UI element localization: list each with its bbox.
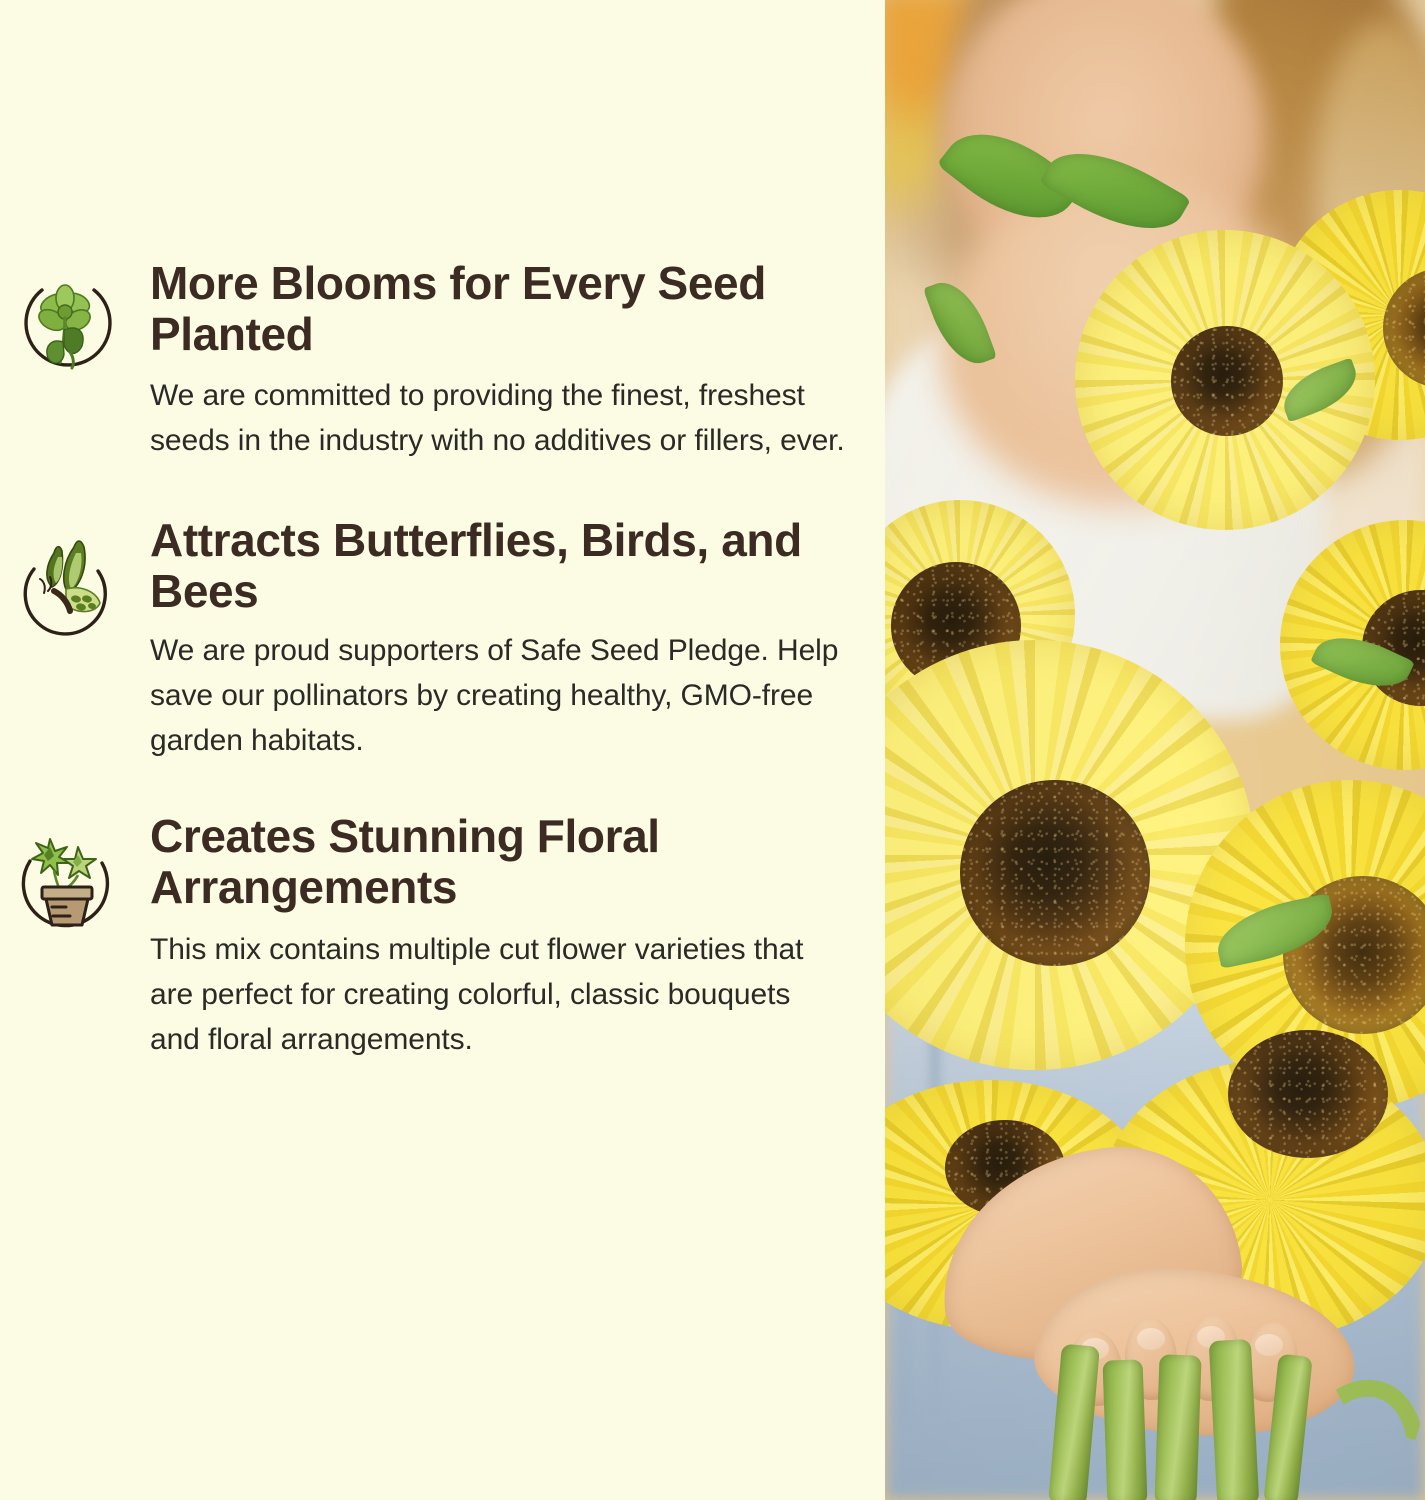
feature-block-floral-arrangements: Creates Stunning Floral Arrangements Thi… <box>0 811 885 1061</box>
feature-title: Creates Stunning Floral Arrangements <box>150 811 845 912</box>
feature-text-attracts-pollinators: Attracts Butterflies, Birds, and Bees We… <box>150 515 885 763</box>
feature-text-more-blooms: More Blooms for Every Seed Planted We ar… <box>150 258 885 463</box>
photo-stem <box>1209 1339 1260 1500</box>
feature-title: Attracts Butterflies, Birds, and Bees <box>150 515 845 616</box>
feature-block-more-blooms: More Blooms for Every Seed Planted We ar… <box>0 258 885 463</box>
butterfly-icon <box>8 525 128 643</box>
photo-stem <box>1154 1354 1201 1500</box>
sunflower-bouquet-photo <box>885 0 1425 1500</box>
feature-body: This mix contains multiple cut flower va… <box>150 927 845 1062</box>
sunflower-center <box>960 780 1150 966</box>
photo-fingernail <box>1255 1334 1283 1356</box>
potted-plant-icon <box>8 821 128 939</box>
feature-title: More Blooms for Every Seed Planted <box>150 258 845 359</box>
sunflower-center <box>1171 326 1283 436</box>
feature-text-floral-arrangements: Creates Stunning Floral Arrangements Thi… <box>150 811 885 1061</box>
photo-stem <box>1102 1359 1147 1500</box>
feature-body: We are proud supporters of Safe Seed Ple… <box>150 628 845 763</box>
feature-block-attracts-pollinators: Attracts Butterflies, Birds, and Bees We… <box>0 515 885 763</box>
feature-body: We are committed to providing the finest… <box>150 373 845 463</box>
product-benefits-page: More Blooms for Every Seed Planted We ar… <box>0 0 1425 1500</box>
flower-sprout-icon <box>8 268 128 386</box>
photo-fingernail <box>1137 1328 1165 1350</box>
benefits-panel: More Blooms for Every Seed Planted We ar… <box>0 0 885 1500</box>
sunflower-center <box>1228 1030 1388 1158</box>
